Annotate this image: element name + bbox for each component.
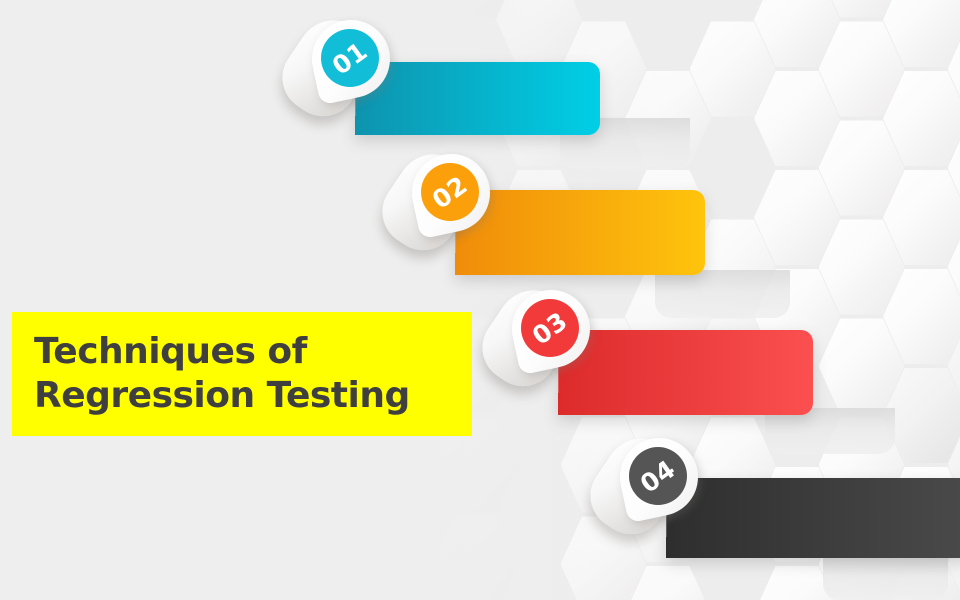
step-1-badge: 01: [300, 18, 420, 136]
step-4-badge: 04: [608, 436, 728, 554]
hexagon-tile: [432, 515, 518, 600]
hexagon-tile: [174, 515, 260, 600]
page-title-line-1: Techniques of: [34, 330, 472, 374]
step-4-under-card: [823, 556, 948, 600]
step-2-number: 02: [428, 171, 472, 212]
infographic-canvas: Techniques of Regression Testing 01 Rete…: [0, 0, 960, 600]
step-4-number-circle: 04: [629, 447, 687, 505]
step-2-number-circle: 02: [421, 163, 479, 221]
step-3-badge: 03: [500, 288, 620, 406]
hexagon-tile: [303, 218, 389, 317]
step-1-number-circle: 01: [321, 29, 379, 87]
step-2-badge: 02: [400, 152, 520, 270]
hexagon-tile: [0, 465, 66, 564]
page-title: Techniques of Regression Testing: [12, 312, 472, 436]
step-3-number: 03: [528, 307, 572, 348]
page-title-line-2: Regression Testing: [34, 374, 472, 418]
hexagon-tile: [0, 0, 66, 69]
step-1-number: 01: [328, 37, 372, 78]
step-item-1[interactable]: 01 Retest All: [300, 18, 960, 168]
step-item-4[interactable]: 04 Hybrid: [608, 428, 960, 598]
step-4-number: 04: [636, 455, 680, 496]
step-3-number-circle: 03: [521, 299, 579, 357]
step-item-3[interactable]: 03 Test Case Prioritization: [500, 288, 960, 448]
